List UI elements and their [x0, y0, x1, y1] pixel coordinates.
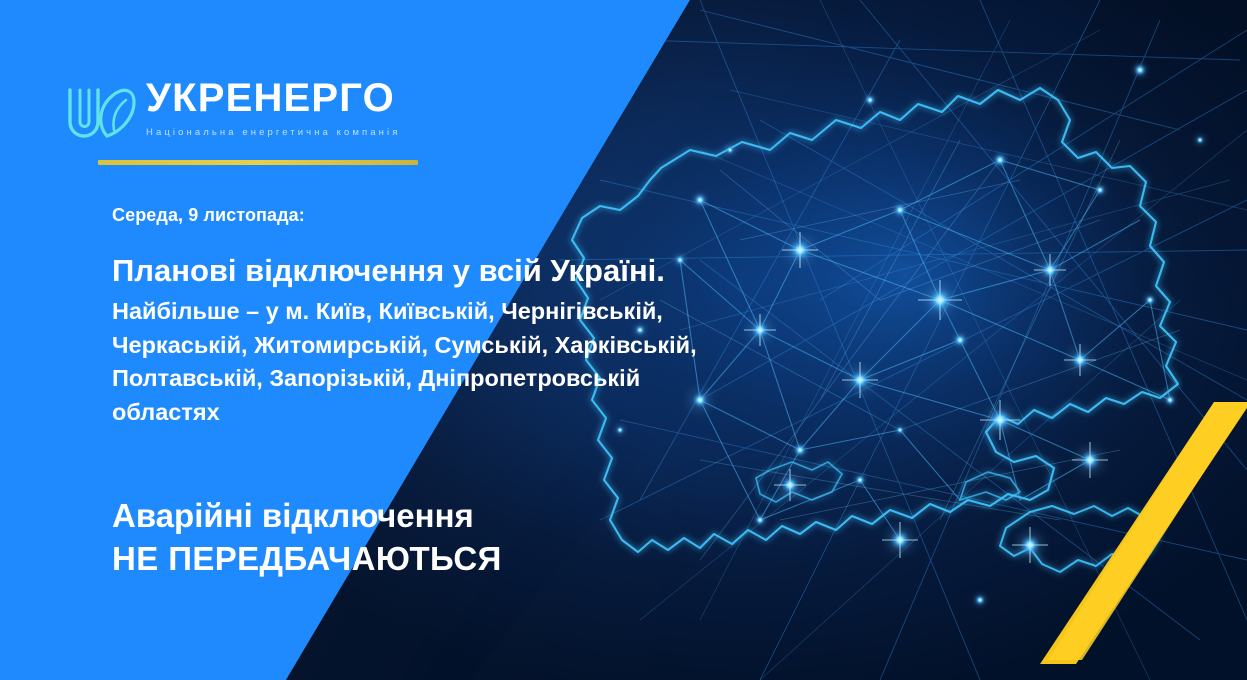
body-line-2: Черкаській, Житомирській, Сумській, Харк… [112, 329, 872, 363]
emphasis-line-1: Аварійні відключення [112, 495, 502, 538]
ukrenergo-leaf-logo-icon [62, 82, 138, 148]
date-label: Середа, 9 листопада: [112, 205, 872, 226]
ukrenergo-announcement-poster: УКРЕНЕРГО Національна енергетична компан… [0, 0, 1247, 680]
body-line-3: Полтавській, Запорізькій, Дніпропетровсь… [112, 362, 872, 396]
emphasis-block: Аварійні відключення НЕ ПЕРЕДБАЧАЮТЬСЯ [112, 495, 502, 581]
body-line-4: областях [112, 396, 872, 430]
brand-tagline: Національна енергетична компанія [146, 127, 400, 138]
body-line-1: Найбільше – у м. Київ, Київській, Черніг… [112, 295, 872, 329]
gold-divider-rule [98, 160, 418, 165]
emphasis-line-2: НЕ ПЕРЕДБАЧАЮТЬСЯ [112, 538, 502, 581]
announcement-copy: Середа, 9 листопада: Планові відключення… [112, 205, 872, 430]
brand-name: УКРЕНЕРГО [146, 78, 400, 118]
headline: Планові відключення у всій Україні. [112, 254, 872, 289]
brand-logo: УКРЕНЕРГО Національна енергетична компан… [62, 78, 400, 148]
